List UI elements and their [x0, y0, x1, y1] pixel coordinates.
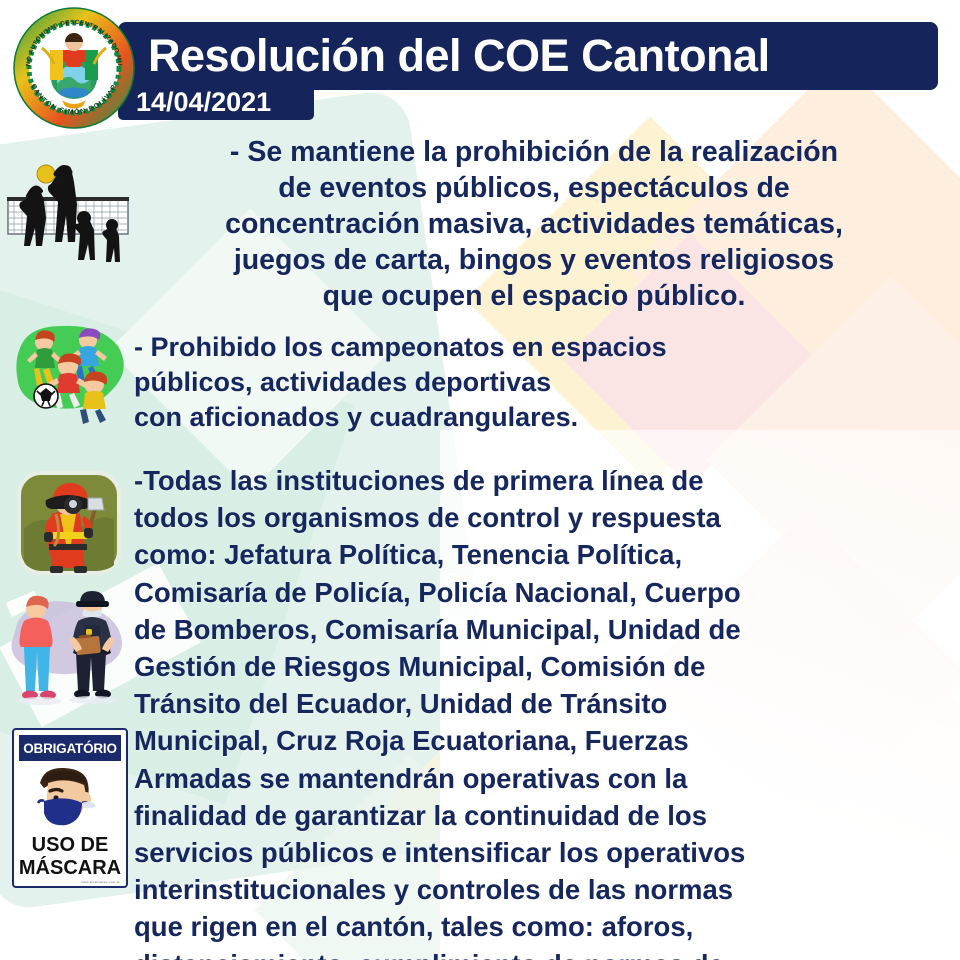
paragraph-line: distanciamiento, cumplimiento de normas …	[134, 946, 946, 960]
poster-header: Resolución del COE Cantonal 14/04/2021	[0, 0, 960, 132]
paragraph-line: concentración masiva, actividades temáti…	[128, 206, 940, 242]
paragraph-line: Municipal, Cruz Roja Ecuatoriana, Fuerza…	[134, 722, 946, 759]
paragraph-line: todos los organismos de control y respue…	[134, 499, 946, 536]
paragraph-line: -Todas las instituciones de primera líne…	[134, 462, 946, 499]
paragraph-line: públicos, actividades deportivas	[134, 365, 894, 400]
paragraph-line: - Prohibido los campeonatos en espacios	[134, 330, 894, 365]
mask-mandatory-sign: OBRIGATÓRIO USO DE MÁSCARA www.sinalizac…	[12, 728, 128, 888]
paragraph-line: de Bomberos, Comisaría Municipal, Unidad…	[134, 611, 946, 648]
paragraph-line: con aficionados y cuadrangulares.	[134, 400, 894, 435]
paragraph-line: interinstitucionales y controles de las …	[134, 871, 946, 908]
paragraph-line: que rigen en el cantón, tales como: afor…	[134, 908, 946, 945]
mask-sign-footer: USO DE MÁSCARA	[14, 834, 126, 880]
page-title: Resolución del COE Cantonal	[148, 26, 948, 86]
paragraph-line: de eventos públicos, espectáculos de	[128, 170, 940, 206]
mask-sign-footer-line1: USO DE	[14, 834, 126, 857]
paragraph-line: juegos de carta, bingos y eventos religi…	[128, 242, 940, 278]
resolution-date: 14/04/2021	[136, 86, 271, 118]
paragraph-line: finalidad de garantizar la continuidad d…	[134, 797, 946, 834]
masked-face-icon	[14, 761, 126, 833]
paragraph-line: como: Jefatura Política, Tenencia Políti…	[134, 536, 946, 573]
paragraph-line: - Se mantiene la prohibición de la reali…	[128, 134, 940, 170]
resolution-poster: Resolución del COE Cantonal 14/04/2021	[0, 0, 960, 960]
paragraph-line: Tránsito del Ecuador, Unidad de Tránsito	[134, 685, 946, 722]
volleyball-silhouette-icon	[2, 148, 134, 288]
paragraph-line: servicios públicos e intensificar los op…	[134, 834, 946, 871]
paragraph-line: Comisaría de Policía, Policía Nacional, …	[134, 574, 946, 611]
paragraph-prohibicion-eventos: - Se mantiene la prohibición de la reali…	[128, 134, 940, 314]
paragraph-instituciones-primera-linea: -Todas las instituciones de primera líne…	[134, 462, 946, 960]
police-officer-icon	[0, 575, 136, 727]
mask-sign-header: OBRIGATÓRIO	[19, 735, 121, 761]
paragraph-line: que ocupen el espacio público.	[128, 278, 940, 314]
paragraph-line: Gestión de Riesgos Municipal, Comisión d…	[134, 648, 946, 685]
mask-sign-credit: www.sinalizacao.com.br	[81, 880, 120, 884]
firefighter-icon	[16, 470, 122, 582]
municipal-crest-icon: GOBIERNO AUTÓNOMO DESCENTRALIZADO MUNICI…	[12, 6, 136, 130]
mask-sign-header-label: OBRIGATÓRIO	[23, 741, 117, 756]
paragraph-prohibicion-campeonatos: - Prohibido los campeonatos en espacios …	[134, 330, 894, 435]
children-playing-soccer-icon	[4, 316, 132, 438]
paragraph-line: Armadas se mantendrán operativas con la	[134, 760, 946, 797]
mask-sign-footer-line2: MÁSCARA	[14, 857, 126, 880]
